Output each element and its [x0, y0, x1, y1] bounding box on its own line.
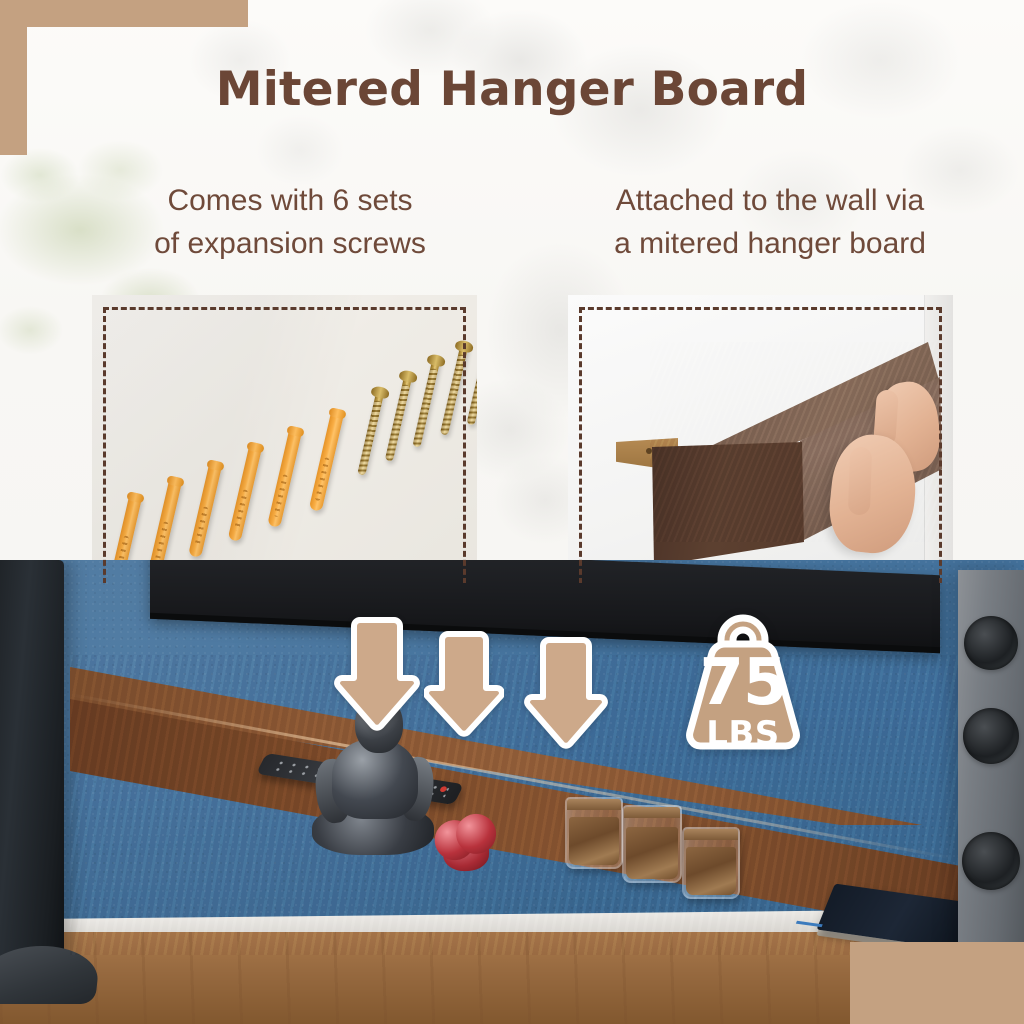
- wall-anchor: [188, 460, 223, 558]
- speaker-right: [958, 570, 1024, 970]
- expansion-screws-photo: [92, 295, 477, 583]
- speaker-driver: [964, 616, 1018, 670]
- hanger-board-install-photo: [568, 295, 953, 583]
- wall-anchor: [228, 442, 263, 542]
- down-arrow-icon: [334, 614, 420, 736]
- jar-rim: [682, 829, 740, 840]
- speaker-left: [0, 560, 64, 960]
- jar-rim: [565, 799, 623, 810]
- feature-caption-expansion-screws: Comes with 6 sets of expansion screws: [55, 180, 525, 265]
- page-title: Mitered Hanger Board: [0, 62, 1024, 117]
- infographic-root: Mitered Hanger Board Comes with 6 sets o…: [0, 0, 1024, 1024]
- jar-rim: [622, 807, 682, 818]
- wall-anchor: [309, 408, 345, 512]
- expansion-screw: [467, 330, 477, 425]
- corner-accent-top: [0, 0, 248, 27]
- wall-anchor: [267, 426, 303, 528]
- weight-unit: LBS: [663, 714, 823, 754]
- candle-wax: [686, 847, 736, 895]
- feature-caption-line2: of expansion screws: [55, 223, 525, 266]
- screws-photo-surface: [92, 295, 477, 583]
- speaker-driver: [962, 832, 1020, 890]
- install-photo-surface: [568, 295, 953, 583]
- down-arrow-icon: [424, 628, 504, 742]
- expansion-screw: [412, 356, 440, 447]
- feature-caption-line1: Comes with 6 sets: [55, 180, 525, 223]
- shelf-front-face: [652, 442, 812, 564]
- thumb-lower: [848, 447, 872, 516]
- speaker-driver: [963, 708, 1019, 764]
- candle-jar: [682, 827, 740, 899]
- expansion-screw: [357, 388, 385, 476]
- candle-jar: [565, 797, 623, 869]
- expansion-screw: [440, 342, 469, 435]
- corner-accent-bottom-right: [850, 942, 1024, 1024]
- down-arrow-icon: [524, 634, 608, 754]
- weight-value: 75: [663, 646, 823, 720]
- heart-ornament: [432, 812, 500, 874]
- candle-jar: [622, 805, 682, 883]
- candle-wax: [569, 817, 619, 865]
- weight-capacity-badge: 75 LBS: [663, 592, 823, 760]
- feature-caption-line2: a mitered hanger board: [520, 223, 1020, 266]
- feature-caption-hanger-board: Attached to the wall via a mitered hange…: [520, 180, 1020, 265]
- expansion-screw: [385, 372, 413, 461]
- candle-wax: [626, 827, 678, 879]
- wall-anchor: [149, 476, 183, 572]
- feature-caption-line1: Attached to the wall via: [520, 180, 1020, 223]
